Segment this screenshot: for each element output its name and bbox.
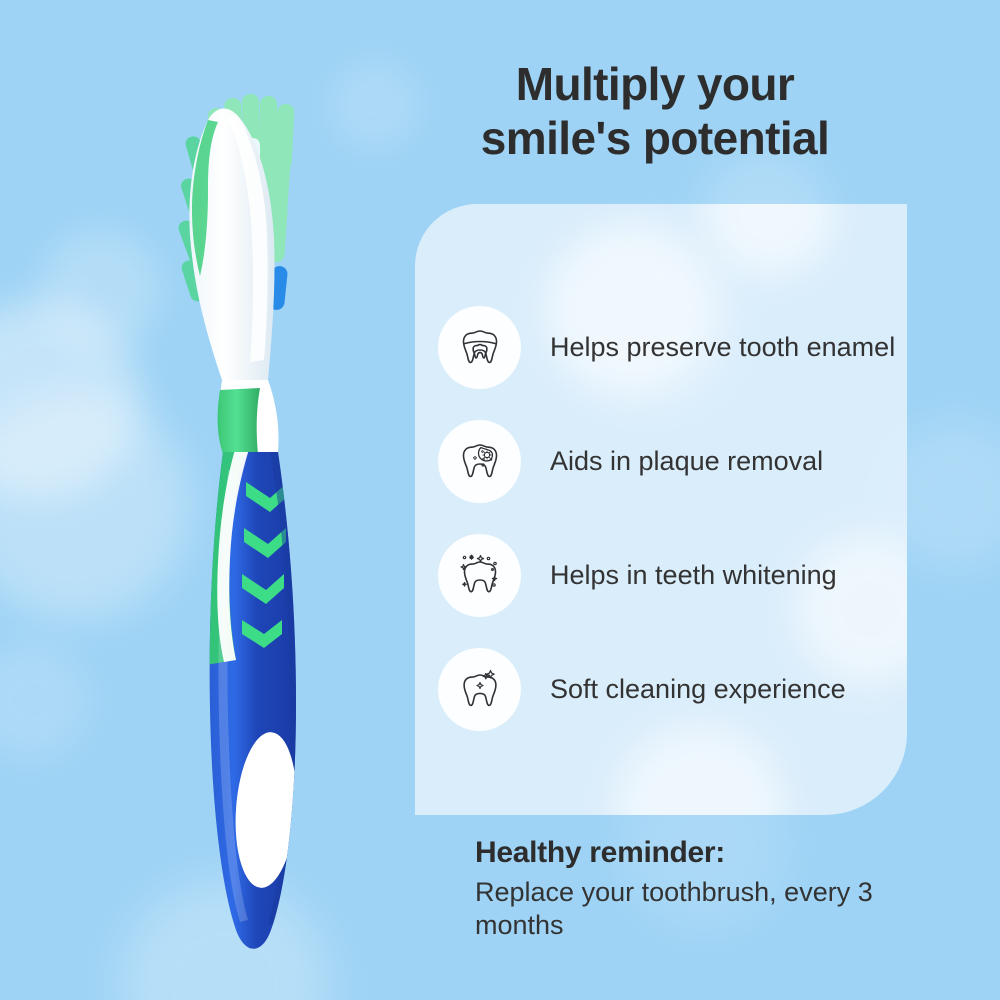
feature-list: Helps preserve tooth enamel <box>415 204 907 746</box>
brush-neck <box>219 380 278 452</box>
reminder-body: Replace your toothbrush, every 3 months <box>475 876 905 942</box>
bokeh-circle <box>40 230 160 350</box>
tooth-plaque-icon <box>455 436 505 486</box>
feature-item-soft-cleaning: Soft cleaning experience <box>438 632 907 746</box>
reminder-title: Healthy reminder: <box>475 836 905 870</box>
feature-label: Aids in plaque removal <box>550 444 823 478</box>
feature-label: Helps preserve tooth enamel <box>550 330 895 364</box>
brush-handle <box>210 452 296 949</box>
tooth-whitening-icon <box>453 548 507 602</box>
feature-item-enamel: Helps preserve tooth enamel <box>438 290 907 404</box>
product-poster: Multiply your smile's potential Helps pr… <box>0 0 1000 1000</box>
grip-chevrons <box>242 482 288 648</box>
tooth-sparkle-icon <box>454 663 506 715</box>
tooth-enamel-icon <box>455 322 505 372</box>
thumb-rest <box>231 730 302 890</box>
headline-line-1: Multiply your <box>420 58 890 112</box>
blue-bristle-accent <box>204 258 289 311</box>
feature-icon-wrapper <box>438 420 521 503</box>
bokeh-circle <box>0 300 140 500</box>
page-title: Multiply your smile's potential <box>420 58 890 166</box>
feature-label: Soft cleaning experience <box>550 672 846 706</box>
feature-item-whitening: Helps in teeth whitening <box>438 518 907 632</box>
bokeh-circle <box>0 640 90 760</box>
healthy-reminder: Healthy reminder: Replace your toothbrus… <box>475 836 905 942</box>
feature-icon-wrapper <box>438 648 521 731</box>
feature-item-plaque: Aids in plaque removal <box>438 404 907 518</box>
feature-icon-wrapper <box>438 306 521 389</box>
feature-icon-wrapper <box>438 534 521 617</box>
toothbrush-photo <box>150 50 380 960</box>
bokeh-circle <box>120 880 330 1000</box>
headline-line-2: smile's potential <box>420 112 890 166</box>
bristles <box>177 94 295 311</box>
bokeh-circle <box>0 390 190 620</box>
bokeh-circle <box>330 60 420 150</box>
feature-panel: Helps preserve tooth enamel <box>415 204 907 815</box>
brush-head <box>189 109 274 380</box>
feature-label: Helps in teeth whitening <box>550 558 837 592</box>
